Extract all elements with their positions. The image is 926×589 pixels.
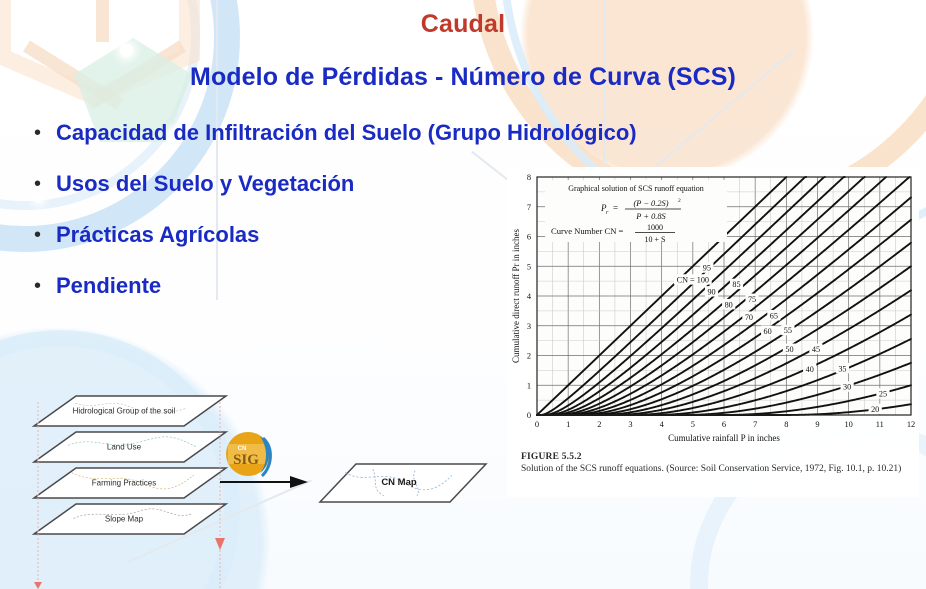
layer-label: Hidrological Group of the soil bbox=[73, 406, 176, 415]
chart-y-tick-label: 2 bbox=[527, 352, 531, 361]
bullet-marker-icon: • bbox=[34, 271, 56, 301]
chart-x-tick-label: 7 bbox=[753, 420, 757, 429]
chart-curve-label: 90 bbox=[707, 288, 715, 297]
sparkle-1 bbox=[120, 44, 133, 57]
bullet-label: Pendiente bbox=[56, 271, 161, 301]
bullet-list: • Capacidad de Infiltración del Suelo (G… bbox=[34, 118, 504, 322]
slide-title: Caudal bbox=[0, 10, 926, 39]
chart-curve-label: 75 bbox=[748, 295, 756, 304]
cn-map-label: CN Map bbox=[381, 477, 417, 488]
chart-curve-label: CN = 100 bbox=[677, 276, 709, 285]
guide-marker-triangle bbox=[215, 538, 225, 550]
sig-logo: CNSIG bbox=[226, 432, 270, 476]
chart-curve-label: 65 bbox=[770, 311, 778, 320]
chart-x-tick-label: 10 bbox=[844, 420, 852, 429]
chart-x-tick-label: 8 bbox=[784, 420, 788, 429]
chart-x-tick-label: 3 bbox=[628, 420, 632, 429]
chart-inset-heading: Graphical solution of SCS runoff equatio… bbox=[568, 184, 704, 193]
chart-curve-label: 35 bbox=[838, 364, 846, 373]
equation-numerator: (P − 0.2S) bbox=[633, 199, 668, 208]
gis-layer-2: Farming Practices bbox=[34, 468, 226, 498]
bullet-marker-icon: • bbox=[34, 220, 56, 250]
chart-y-tick-label: 4 bbox=[527, 292, 532, 301]
bullet-marker-icon: • bbox=[34, 118, 56, 148]
gis-layers-diagram: Hidrological Group of the soilLand UseFa… bbox=[20, 392, 500, 589]
chart-area: CN = 10095908580757065605550454035302520… bbox=[507, 167, 919, 451]
chart-x-axis-label: Cumulative rainfall P in inches bbox=[668, 433, 780, 443]
figure-caption: FIGURE 5.5.2 Solution of the SCS runoff … bbox=[521, 452, 913, 476]
gis-layer-3: Slope Map bbox=[34, 504, 226, 534]
chart-curve-label: 50 bbox=[785, 345, 793, 354]
equation-exponent: 2 bbox=[678, 198, 681, 204]
chart-y-tick-label: 7 bbox=[527, 203, 531, 212]
chart-x-tick-label: 6 bbox=[722, 420, 726, 429]
bullet-marker-icon: • bbox=[34, 169, 56, 199]
bullet-label: Prácticas Agrícolas bbox=[56, 220, 259, 250]
chart-x-tick-label: 0 bbox=[535, 420, 539, 429]
chart-x-ticks: 0123456789101112 bbox=[535, 420, 915, 429]
chart-x-tick-label: 2 bbox=[597, 420, 601, 429]
bullet-label: Usos del Suelo y Vegetación bbox=[56, 169, 354, 199]
list-item: • Capacidad de Infiltración del Suelo (G… bbox=[34, 118, 504, 148]
equation-equals: = bbox=[613, 203, 618, 213]
chart-y-ticks: 012345678 bbox=[527, 173, 532, 420]
chart-curve-label: 70 bbox=[745, 313, 753, 322]
cn-numerator: 1000 bbox=[647, 223, 663, 232]
chart-y-tick-label: 8 bbox=[527, 173, 531, 182]
process-arrow-head bbox=[290, 476, 308, 488]
scs-runoff-chart: CN = 10095908580757065605550454035302520… bbox=[507, 167, 919, 451]
chart-y-tick-label: 1 bbox=[527, 381, 531, 390]
chart-y-tick-label: 0 bbox=[527, 411, 531, 420]
chart-x-tick-label: 5 bbox=[691, 420, 695, 429]
gis-layer-1: Land Use bbox=[34, 432, 226, 462]
layer-label: Land Use bbox=[107, 442, 142, 451]
gis-layer-0: Hidrological Group of the soil bbox=[34, 396, 226, 426]
chart-curve-label: 95 bbox=[703, 264, 711, 273]
chart-curve-label: 55 bbox=[784, 326, 792, 335]
chart-curve-label: 25 bbox=[879, 390, 887, 399]
layer-label: Farming Practices bbox=[92, 478, 156, 487]
cn-label: Curve Number CN = bbox=[551, 226, 624, 236]
chart-curve-label: 80 bbox=[725, 300, 733, 309]
chart-x-tick-label: 11 bbox=[876, 420, 884, 429]
chart-x-tick-label: 1 bbox=[566, 420, 570, 429]
guide-marker-triangle-bottom bbox=[34, 582, 42, 589]
chart-curve-label: 20 bbox=[871, 405, 879, 414]
list-item: • Usos del Suelo y Vegetación bbox=[34, 169, 504, 199]
layer-label: Slope Map bbox=[105, 514, 144, 523]
chart-y-tick-label: 6 bbox=[527, 233, 531, 242]
bullet-label: Capacidad de Infiltración del Suelo (Gru… bbox=[56, 118, 637, 148]
chart-y-tick-label: 3 bbox=[527, 322, 531, 331]
equation-denominator: P + 0.8S bbox=[635, 212, 666, 221]
chart-curve-label: 40 bbox=[806, 365, 814, 374]
chart-y-axis-label: Cumulative direct runoff Pr in inches bbox=[511, 228, 521, 363]
figure-caption-text: Solution of the SCS runoff equations. (S… bbox=[521, 463, 913, 476]
scs-runoff-figure: CN = 10095908580757065605550454035302520… bbox=[507, 167, 919, 497]
list-item: • Prácticas Agrícolas bbox=[34, 220, 504, 250]
cn-denominator: 10 + S bbox=[645, 235, 666, 244]
chart-curve-label: 30 bbox=[843, 383, 851, 392]
list-item: • Pendiente bbox=[34, 271, 504, 301]
chart-x-tick-label: 4 bbox=[660, 420, 665, 429]
figure-number: FIGURE 5.5.2 bbox=[521, 452, 913, 462]
gis-diagram-svg: Hidrological Group of the soilLand UseFa… bbox=[20, 392, 500, 589]
chart-curve-label: 60 bbox=[764, 327, 772, 336]
chart-curve-label: 45 bbox=[812, 345, 820, 354]
chart-y-tick-label: 5 bbox=[527, 262, 531, 271]
chart-x-tick-label: 9 bbox=[815, 420, 819, 429]
cn-map-output: CN Map bbox=[320, 464, 486, 502]
chart-x-tick-label: 12 bbox=[907, 420, 915, 429]
slide-subtitle: Modelo de Pérdidas - Número de Curva (SC… bbox=[0, 63, 926, 92]
sig-logo-text: SIG bbox=[233, 452, 259, 468]
chart-curve-label: 85 bbox=[732, 280, 740, 289]
slide-canvas: Caudal Modelo de Pérdidas - Número de Cu… bbox=[0, 0, 926, 589]
